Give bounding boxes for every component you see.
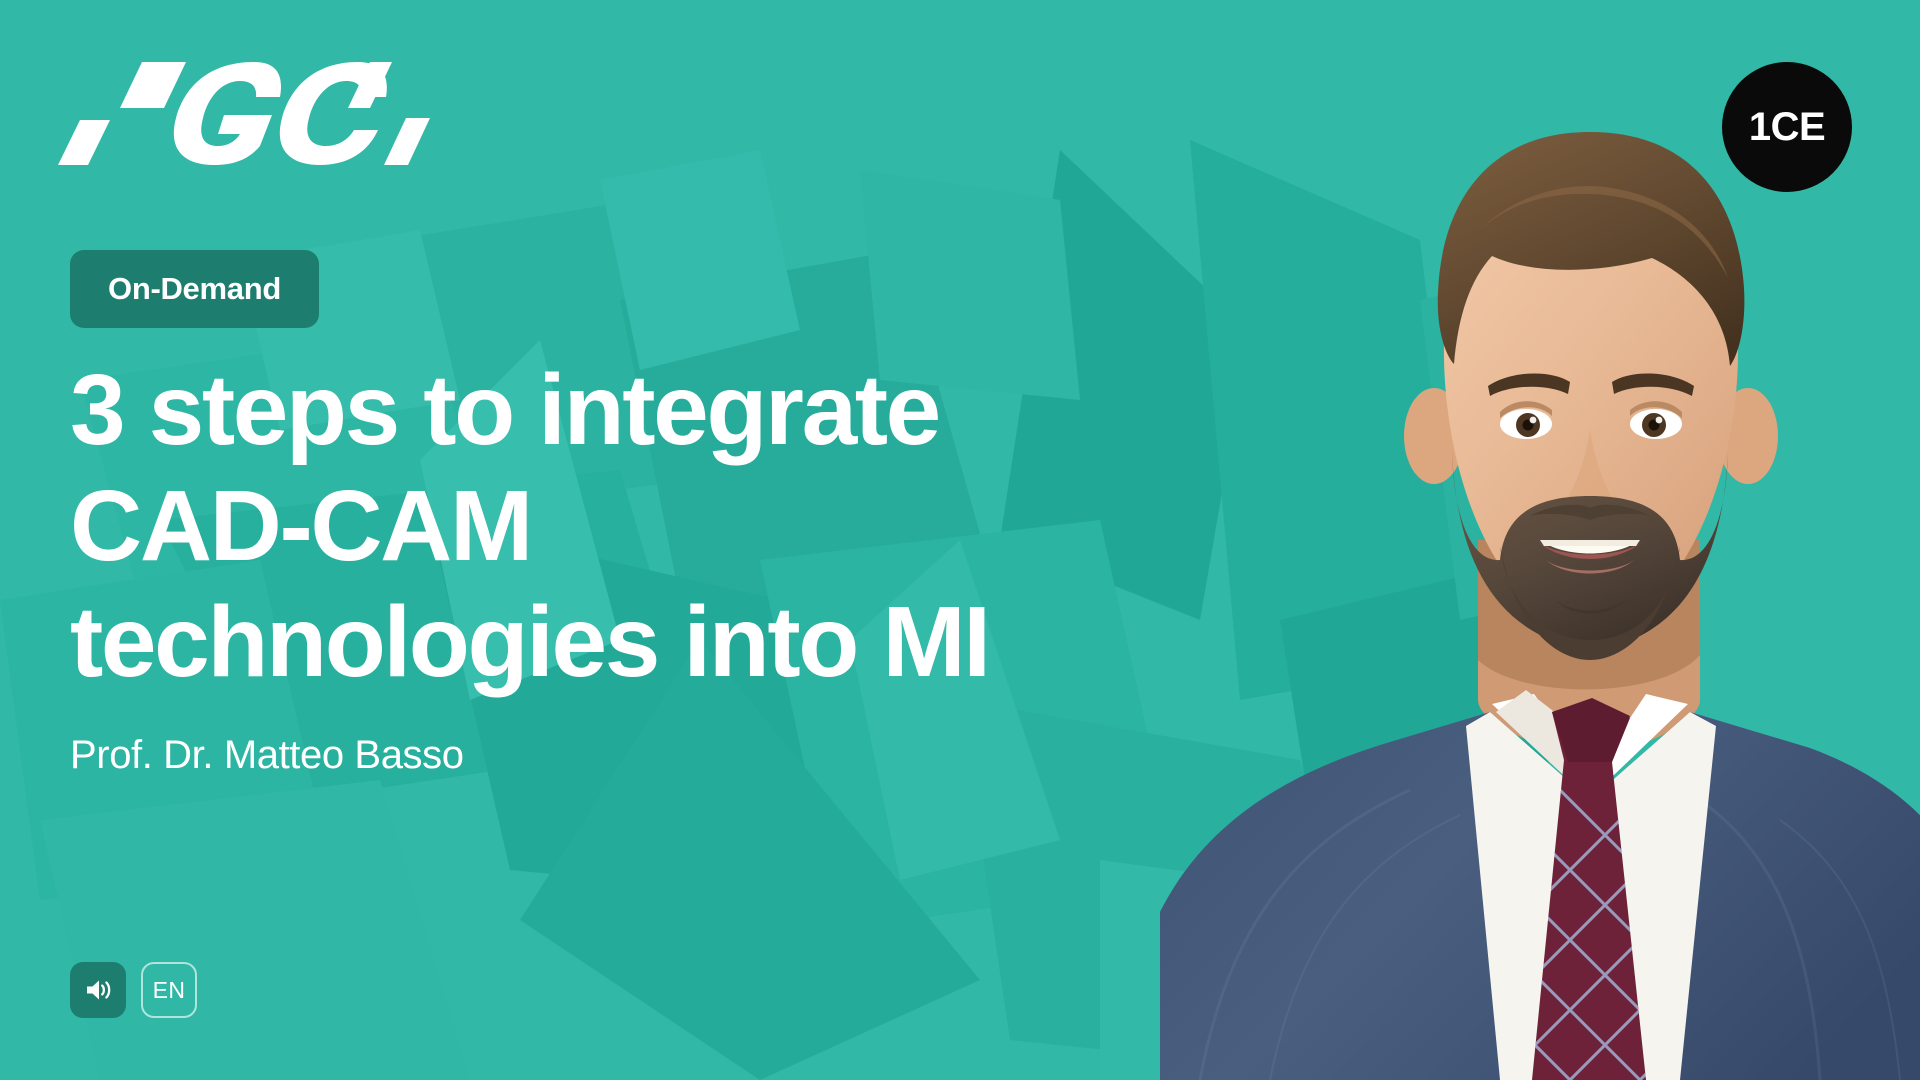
gc-logo	[58, 60, 438, 165]
status-badge-on-demand: On-Demand	[70, 250, 319, 328]
ce-credit-badge: 1CE	[1722, 62, 1852, 192]
speaker-volume-icon	[83, 975, 113, 1005]
page-title: 3 steps to integrate CAD-CAM technologie…	[70, 352, 1160, 700]
language-label: EN	[153, 977, 186, 1004]
media-controls-bar: EN	[70, 962, 197, 1018]
presenter-name: Prof. Dr. Matteo Basso	[70, 733, 464, 778]
title-line-3: technologies into MI	[70, 584, 1160, 700]
sound-toggle-button[interactable]	[70, 962, 126, 1018]
title-line-2: CAD-CAM	[70, 468, 1160, 584]
webinar-title-card: On-Demand 3 steps to integrate CAD-CAM t…	[0, 0, 1920, 1080]
language-selector-button[interactable]: EN	[141, 962, 197, 1018]
title-line-1: 3 steps to integrate	[70, 352, 1160, 468]
